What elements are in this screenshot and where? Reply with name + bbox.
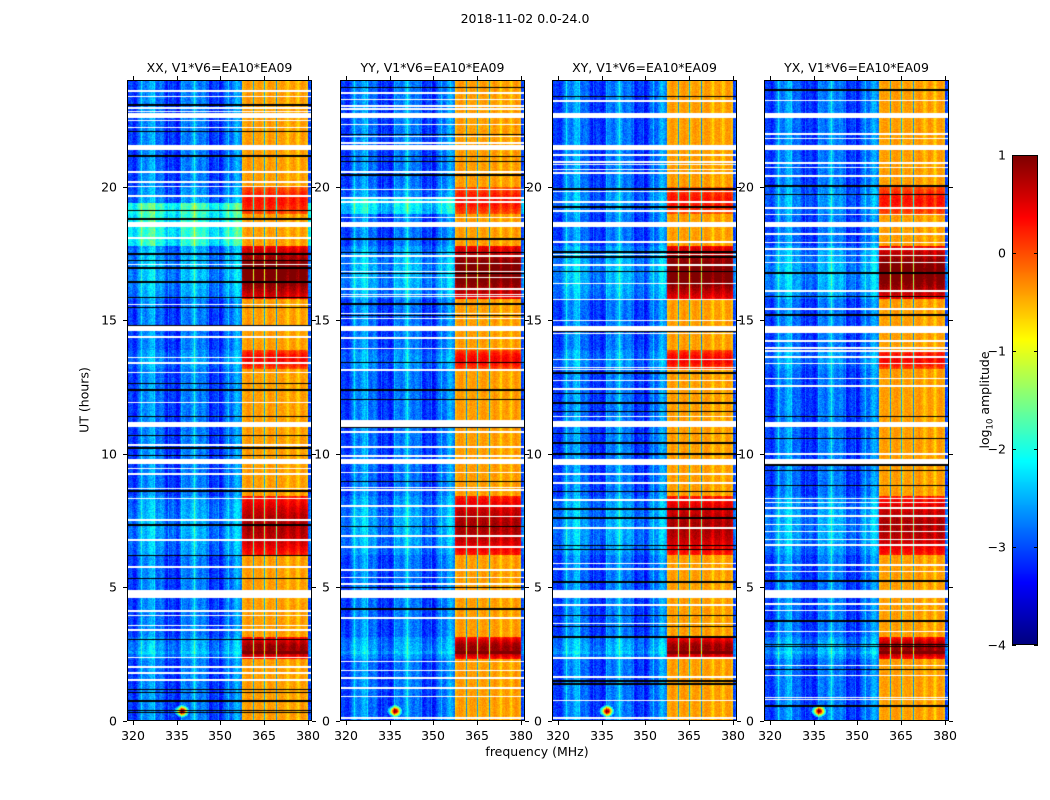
x-tick-label: 365 [677, 728, 701, 743]
y-tick-label: 20 [314, 180, 330, 195]
colorbar-tick [1012, 645, 1016, 646]
x-tick [733, 721, 734, 725]
panel-title: XY, V1*V6=EA10*EA09 [572, 60, 717, 75]
y-tick [336, 320, 340, 321]
x-tick [602, 721, 603, 725]
y-tick-label: 5 [109, 580, 117, 595]
colorbar-tick [1034, 449, 1038, 450]
x-tick-top [645, 76, 646, 80]
spectrogram-image [764, 80, 949, 721]
spectrogram-image [127, 80, 312, 721]
y-tick [760, 587, 764, 588]
colorbar-tick [1034, 547, 1038, 548]
x-tick-top [558, 76, 559, 80]
colorbar-tick [1034, 645, 1038, 646]
y-tick-label: 5 [322, 580, 330, 595]
colorbar-tick [1012, 449, 1016, 450]
x-tick [177, 721, 178, 725]
y-tick-label: 20 [738, 180, 754, 195]
x-tick-label: 335 [802, 728, 826, 743]
x-tick [390, 721, 391, 725]
y-tick-right [737, 587, 741, 588]
y-tick-label: 10 [101, 447, 117, 462]
x-tick-top [602, 76, 603, 80]
y-tick-label: 5 [534, 580, 542, 595]
spectrogram-panel-yy[interactable]: YY, V1*V6=EA10*EA09320335350365380051015… [340, 80, 525, 721]
x-tick-top [220, 76, 221, 80]
x-tick-label: 335 [165, 728, 189, 743]
y-tick [123, 721, 127, 722]
x-tick [558, 721, 559, 725]
x-tick-top [901, 76, 902, 80]
colorbar: −4−3−2−101 [1012, 155, 1038, 645]
y-tick [760, 454, 764, 455]
x-tick [133, 721, 134, 725]
y-tick [548, 721, 552, 722]
colorbar-label-main: log [977, 429, 992, 448]
x-tick-top [133, 76, 134, 80]
x-tick-label: 365 [465, 728, 489, 743]
x-tick-label: 380 [721, 728, 745, 743]
y-tick [548, 454, 552, 455]
x-tick [689, 721, 690, 725]
x-tick [433, 721, 434, 725]
x-tick-top [814, 76, 815, 80]
y-tick-right [949, 587, 953, 588]
x-tick [645, 721, 646, 725]
colorbar-tick [1012, 155, 1016, 156]
y-tick [760, 320, 764, 321]
y-tick [123, 187, 127, 188]
y-tick-label: 10 [738, 447, 754, 462]
colorbar-label-tail: amplitude [977, 351, 992, 418]
colorbar-label-sub: 10 [985, 419, 995, 430]
x-tick-label: 320 [546, 728, 570, 743]
x-tick-top [770, 76, 771, 80]
colorbar-gradient [1012, 155, 1038, 645]
spectrogram-panel-xx[interactable]: XX, V1*V6=EA10*EA09320335350365380051015… [127, 80, 312, 721]
x-tick-label: 365 [252, 728, 276, 743]
y-tick-label: 20 [526, 180, 542, 195]
y-tick-label: 15 [314, 313, 330, 328]
x-tick-label: 350 [421, 728, 445, 743]
colorbar-tick [1012, 351, 1016, 352]
panel-title: XX, V1*V6=EA10*EA09 [147, 60, 293, 75]
y-tick-right [949, 320, 953, 321]
y-tick [548, 320, 552, 321]
y-tick-label: 15 [526, 313, 542, 328]
y-tick-label: 10 [314, 447, 330, 462]
x-tick-label: 335 [590, 728, 614, 743]
y-tick-label: 0 [322, 714, 330, 729]
y-tick-label: 0 [746, 714, 754, 729]
x-tick-top [264, 76, 265, 80]
x-tick [770, 721, 771, 725]
spectrogram-image [552, 80, 737, 721]
y-tick [336, 721, 340, 722]
x-tick-top [945, 76, 946, 80]
spectrogram-image [340, 80, 525, 721]
x-tick-label: 350 [845, 728, 869, 743]
x-tick-label: 320 [121, 728, 145, 743]
y-tick [760, 187, 764, 188]
colorbar-tick [1012, 253, 1016, 254]
x-tick [220, 721, 221, 725]
x-tick [857, 721, 858, 725]
x-tick-label: 380 [933, 728, 957, 743]
x-tick-top [346, 76, 347, 80]
colorbar-label: log10 amplitude [977, 351, 996, 448]
colorbar-tick [1034, 253, 1038, 254]
x-tick-top [433, 76, 434, 80]
spectrogram-panel-yx[interactable]: YX, V1*V6=EA10*EA09320335350365380051015… [764, 80, 949, 721]
colorbar-tick-label: −4 [988, 638, 1006, 653]
y-tick [760, 721, 764, 722]
y-tick-right [525, 587, 529, 588]
y-tick-label: 15 [101, 313, 117, 328]
y-tick [548, 187, 552, 188]
x-tick [814, 721, 815, 725]
x-tick-label: 380 [296, 728, 320, 743]
spectrogram-panel-xy[interactable]: XY, V1*V6=EA10*EA09320335350365380051015… [552, 80, 737, 721]
y-tick-right [525, 721, 529, 722]
y-tick-right [312, 587, 316, 588]
y-tick [123, 320, 127, 321]
panel-title: YY, V1*V6=EA10*EA09 [361, 60, 505, 75]
y-tick-label: 0 [109, 714, 117, 729]
x-tick-label: 365 [889, 728, 913, 743]
x-axis-label: frequency (MHz) [485, 744, 588, 759]
y-tick-right [737, 721, 741, 722]
colorbar-tick [1012, 547, 1016, 548]
y-tick-right [312, 721, 316, 722]
y-tick-label: 10 [526, 447, 542, 462]
x-tick [945, 721, 946, 725]
figure-canvas: 2018-11-02 0.0-24.0 XX, V1*V6=EA10*EA093… [0, 0, 1050, 800]
y-tick [548, 587, 552, 588]
x-tick-top [857, 76, 858, 80]
x-tick-top [177, 76, 178, 80]
y-tick-label: 15 [738, 313, 754, 328]
y-tick-label: 5 [746, 580, 754, 595]
x-tick-label: 335 [378, 728, 402, 743]
y-tick [336, 187, 340, 188]
y-axis-label: UT (hours) [77, 367, 92, 433]
x-tick-top [308, 76, 309, 80]
colorbar-tick-label: 1 [998, 148, 1006, 163]
x-tick [264, 721, 265, 725]
colorbar-tick-label: −3 [988, 540, 1006, 555]
x-tick [308, 721, 309, 725]
x-tick-label: 320 [334, 728, 358, 743]
colorbar-tick-label: 0 [998, 246, 1006, 261]
x-tick-label: 380 [509, 728, 533, 743]
y-tick [123, 587, 127, 588]
x-tick [901, 721, 902, 725]
y-tick [336, 454, 340, 455]
x-tick-label: 320 [758, 728, 782, 743]
y-tick-right [949, 187, 953, 188]
x-tick-top [477, 76, 478, 80]
colorbar-tick [1034, 351, 1038, 352]
x-tick-top [733, 76, 734, 80]
y-tick [123, 454, 127, 455]
x-tick-top [390, 76, 391, 80]
x-tick-top [689, 76, 690, 80]
y-tick-label: 20 [101, 180, 117, 195]
colorbar-tick [1034, 155, 1038, 156]
x-tick [521, 721, 522, 725]
y-tick-right [949, 454, 953, 455]
x-tick-label: 350 [208, 728, 232, 743]
figure-title: 2018-11-02 0.0-24.0 [0, 11, 1050, 26]
x-tick [346, 721, 347, 725]
panel-title: YX, V1*V6=EA10*EA09 [784, 60, 929, 75]
x-tick [477, 721, 478, 725]
y-tick-right [949, 721, 953, 722]
x-tick-label: 350 [633, 728, 657, 743]
x-tick-top [521, 76, 522, 80]
y-tick [336, 587, 340, 588]
y-tick-label: 0 [534, 714, 542, 729]
